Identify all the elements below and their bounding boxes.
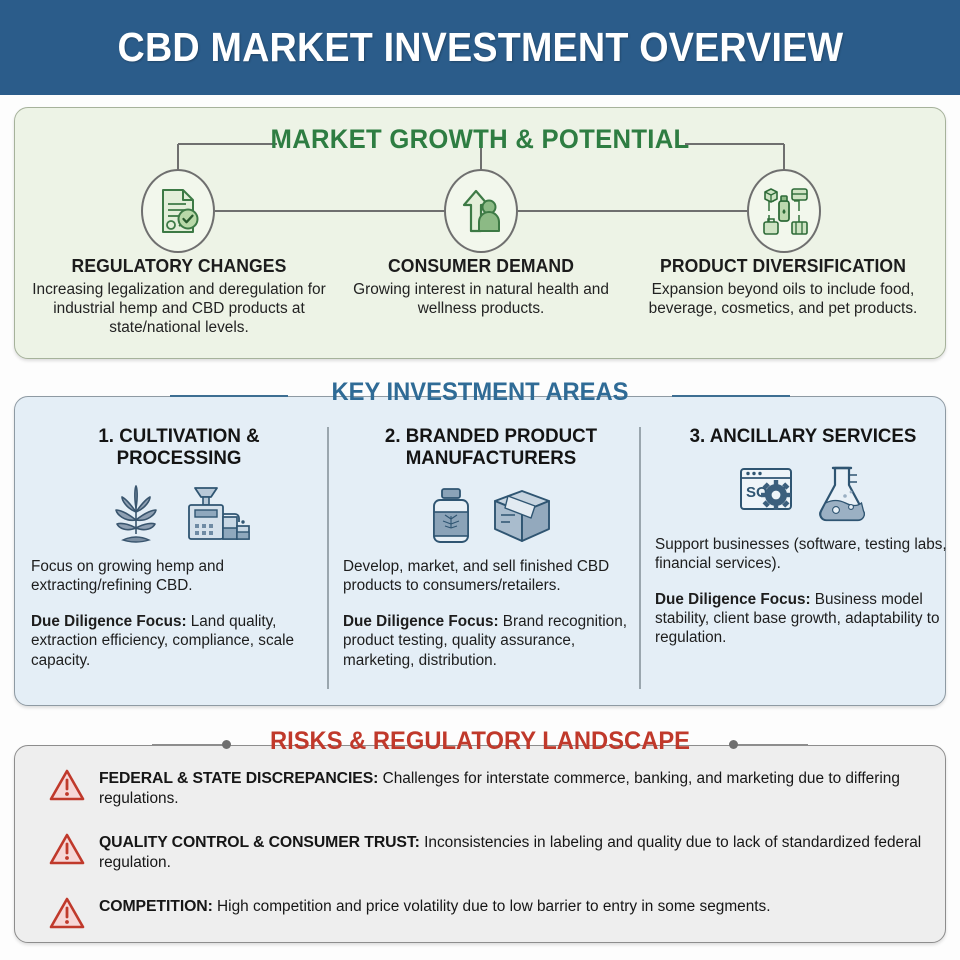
lab-flask-icon: [814, 463, 870, 525]
market-growth-title: MARKET GROWTH & POTENTIAL: [38, 124, 922, 155]
key-investment-title-wrap: KEY INVESTMENT AREAS: [0, 378, 960, 414]
due-diligence-label: Due Diligence Focus:: [31, 613, 187, 630]
key-investment-title: KEY INVESTMENT AREAS: [24, 378, 936, 407]
investment-column-due-diligence: Due Diligence Focus: Business model stab…: [653, 590, 953, 647]
growth-item-body: Growing interest in natural health and w…: [331, 281, 631, 319]
investment-column-icons: [341, 475, 641, 557]
investment-column-body: Support businesses (software, testing la…: [653, 535, 953, 573]
investment-column-due-diligence: Due Diligence Focus: Brand recognition, …: [341, 612, 641, 669]
document-check-icon: [155, 186, 201, 236]
page-header: CBD MARKET INVESTMENT OVERVIEW: [0, 0, 960, 95]
hemp-leaf-icon: [105, 484, 167, 548]
warning-triangle-icon: [49, 896, 85, 930]
risk-item-label: QUALITY CONTROL & CONSUMER TRUST:: [99, 834, 420, 851]
growth-item-regulatory-changes: REGULATORY CHANGES Increasing legalizati…: [29, 255, 329, 337]
consumer-demand-icon-circle: [444, 169, 518, 253]
investment-column-icons: [29, 475, 329, 557]
risks-panel: FEDERAL & STATE DISCREPANCIES: Challenge…: [14, 745, 946, 943]
risk-item-text: COMPETITION: High competition and price …: [99, 896, 771, 917]
risk-item-text: QUALITY CONTROL & CONSUMER TRUST: Incons…: [99, 832, 923, 872]
growth-item-body: Expansion beyond oils to include food, b…: [633, 281, 933, 319]
risk-item: COMPETITION: High competition and price …: [49, 896, 923, 930]
growth-item-heading: PRODUCT DIVERSIFICATION: [641, 255, 926, 277]
due-diligence-label: Due Diligence Focus:: [655, 591, 811, 608]
page-title: CBD MARKET INVESTMENT OVERVIEW: [117, 24, 843, 71]
growth-item-heading: CONSUMER DEMAND: [339, 255, 624, 277]
investment-column-cultivation: 1. CULTIVATION & PROCESSING: [29, 425, 329, 670]
risks-title: RISKS & REGULATORY LANDSCAPE: [24, 727, 936, 756]
risk-item-detail: High competition and price volatility du…: [213, 898, 771, 915]
investment-column-branded-products: 2. BRANDED PRODUCT MANUFACTURERS: [341, 425, 641, 670]
investment-column-body: Focus on growing hemp and extracting/ref…: [29, 557, 329, 595]
key-investment-panel: 1. CULTIVATION & PROCESSING: [14, 396, 946, 706]
investment-column-body: Develop, market, and sell finished CBD p…: [341, 557, 641, 595]
risk-item-label: COMPETITION:: [99, 898, 213, 915]
risk-item: FEDERAL & STATE DISCREPANCIES: Challenge…: [49, 768, 923, 808]
warning-triangle-icon: [49, 768, 85, 802]
growth-item-consumer-demand: CONSUMER DEMAND Growing interest in natu…: [331, 255, 631, 319]
growth-item-body: Increasing legalization and deregulation…: [29, 281, 329, 337]
regulatory-changes-icon-circle: [141, 169, 215, 253]
shipping-box-icon: [489, 485, 555, 547]
processing-plant-icon: [181, 484, 253, 548]
product-diversification-icon-circle: [747, 169, 821, 253]
growth-item-product-diversification: PRODUCT DIVERSIFICATION Expansion beyond…: [633, 255, 933, 319]
risk-item: QUALITY CONTROL & CONSUMER TRUST: Incons…: [49, 832, 923, 872]
investment-column-heading: 2. BRANDED PRODUCT MANUFACTURERS: [347, 425, 635, 469]
investment-column-ancillary-services: 3. ANCILLARY SERVICES SOFT: [653, 425, 953, 648]
growth-item-heading: REGULATORY CHANGES: [37, 255, 322, 277]
infographic-page: CBD MARKET INVESTMENT OVERVIEW MARKET GR…: [0, 0, 960, 960]
investment-column-heading: 3. ANCILLARY SERVICES: [659, 425, 947, 447]
investment-column-icons: SOFT: [653, 453, 953, 535]
risk-item-label: FEDERAL & STATE DISCREPANCIES:: [99, 770, 378, 787]
cbd-bottle-icon: [427, 484, 475, 548]
product-network-bottle-icon: [757, 185, 811, 237]
software-window-gear-icon: SOFT: [736, 464, 800, 524]
growth-arrow-person-icon: [458, 187, 504, 235]
market-growth-panel: MARKET GROWTH & POTENTIAL: [14, 107, 946, 359]
investment-column-due-diligence: Due Diligence Focus: Land quality, extra…: [29, 612, 329, 669]
warning-triangle-icon: [49, 832, 85, 866]
due-diligence-label: Due Diligence Focus:: [343, 613, 499, 630]
risk-item-text: FEDERAL & STATE DISCREPANCIES: Challenge…: [99, 768, 923, 808]
investment-column-heading: 1. CULTIVATION & PROCESSING: [35, 425, 323, 469]
risks-title-wrap: RISKS & REGULATORY LANDSCAPE: [0, 727, 960, 763]
